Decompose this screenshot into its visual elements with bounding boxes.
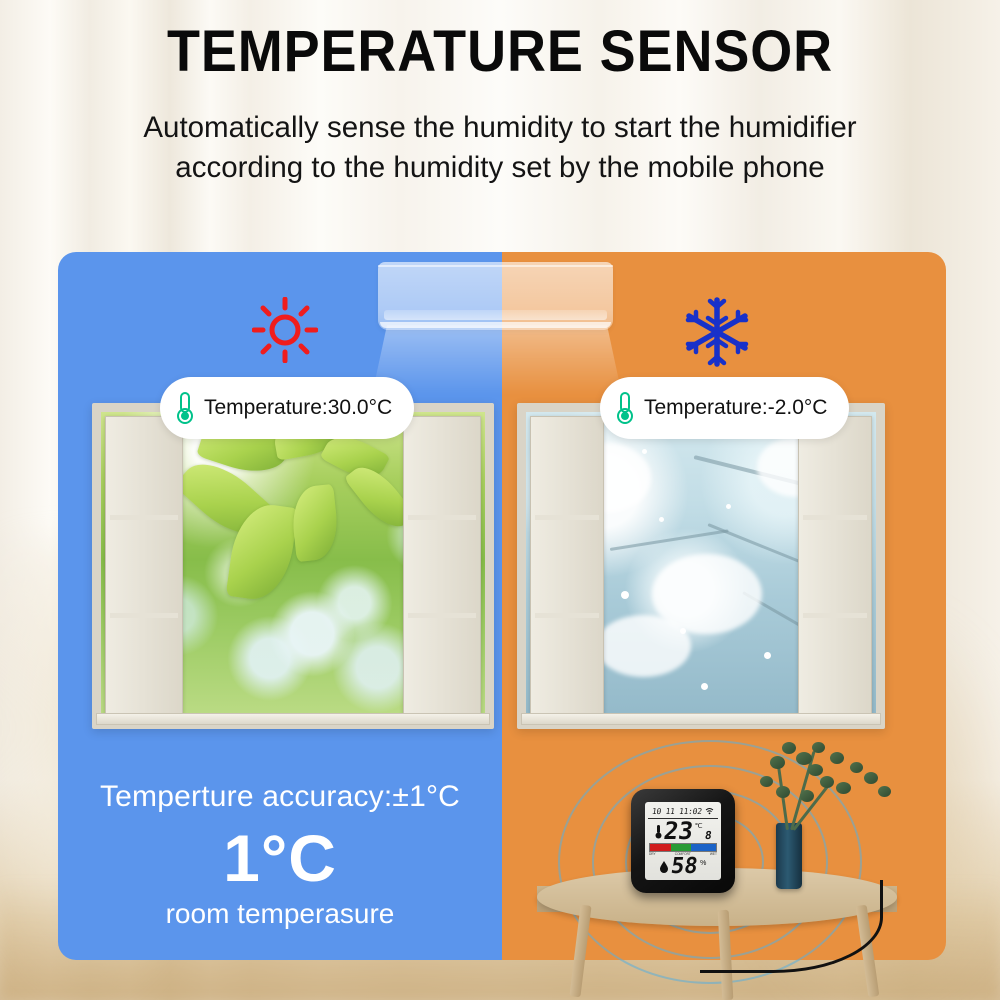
ac-airflow xyxy=(372,325,622,395)
mullion-horizontal-right-2 xyxy=(803,613,867,618)
plant-leaf xyxy=(776,786,790,798)
lcd-temperature-row: 23 ℃ 8 xyxy=(645,819,721,843)
mullion-vertical-left xyxy=(140,421,145,709)
plant-leaf xyxy=(836,782,851,794)
plant-leaf xyxy=(864,772,878,784)
window-sill-right xyxy=(521,713,881,725)
vase xyxy=(776,823,802,889)
mullion-horizontal-left-1 xyxy=(110,515,178,520)
plant-leaf xyxy=(808,764,823,776)
mullion-horizontal-right-1 xyxy=(803,515,867,520)
wifi-icon xyxy=(705,807,714,815)
comfort-bar-dry xyxy=(650,844,671,851)
air-conditioner-unit xyxy=(378,262,613,330)
lcd-temperature-value: 23 xyxy=(662,819,694,843)
plant-leaf xyxy=(878,786,891,797)
mullion-horizontal-right-1 xyxy=(408,515,476,520)
temperature-humidity-sensor[interactable]: 10 11 11:02 23 ℃ 8 xyxy=(631,789,735,893)
accuracy-value: 1°C xyxy=(58,822,502,894)
mullion-vertical-right xyxy=(438,421,443,709)
mullion-horizontal-right-2 xyxy=(408,613,476,618)
temperature-bubble-right: Temperature:-2.0°C xyxy=(600,377,849,439)
thermometer-icon xyxy=(655,824,662,839)
sun-icon xyxy=(252,297,318,363)
lcd-humidity-unit: % xyxy=(700,860,706,867)
mullion-vertical-right xyxy=(831,421,836,709)
room-temperature-caption: room temperasure xyxy=(58,898,502,930)
comfort-bar-wet xyxy=(691,844,716,851)
window-summer xyxy=(92,403,494,729)
subtitle-line-1: Automatically sense the humidity to star… xyxy=(30,108,970,148)
lcd-humidity-row: 58 % xyxy=(645,856,721,880)
window-winter xyxy=(517,403,885,729)
plant-leaf xyxy=(800,790,814,802)
accuracy-caption: Temperture accuracy:±1°C xyxy=(58,780,502,814)
ac-top-edge xyxy=(378,265,613,267)
ac-vent xyxy=(384,310,607,320)
temperature-bubble-left-text: Temperature:30.0°C xyxy=(204,396,392,420)
mullion-horizontal-left-2 xyxy=(110,613,178,618)
comfort-bar-comfort xyxy=(671,844,691,851)
mullion-vertical-left xyxy=(563,421,568,709)
temperature-bubble-right-text: Temperature:-2.0°C xyxy=(644,396,827,420)
snowflake-icon xyxy=(681,296,753,368)
page-subtitle: Automatically sense the humidity to star… xyxy=(30,108,970,188)
mullion-horizontal-left-2 xyxy=(535,613,599,618)
subtitle-line-2: according to the humidity set by the mob… xyxy=(30,148,970,188)
product-infographic: TEMPERATURE SENSOR Automatically sense t… xyxy=(0,0,1000,1000)
plant-leaf xyxy=(770,756,785,769)
plant-leaf xyxy=(850,762,863,773)
plant-leaf xyxy=(820,776,834,788)
sensor-lcd-display: 10 11 11:02 23 ℃ 8 xyxy=(645,802,721,880)
plant-leaf xyxy=(782,742,796,754)
plant-leaf xyxy=(830,752,844,764)
window-sill-left xyxy=(96,713,490,725)
page-title: TEMPERATURE SENSOR xyxy=(35,18,965,85)
lcd-clock: 10 11 11:02 xyxy=(652,807,703,816)
thermometer-icon xyxy=(616,391,634,425)
temperature-bubble-left: Temperature:30.0°C xyxy=(160,377,414,439)
lcd-temperature-unit: ℃ xyxy=(695,822,703,830)
plant-leaf xyxy=(796,752,812,765)
mullion-horizontal-left-1 xyxy=(535,515,599,520)
lcd-humidity-value: 58 xyxy=(669,856,699,878)
lcd-temperature-decimal: 8 xyxy=(704,829,712,842)
thermometer-icon xyxy=(176,391,194,425)
plant-leaf xyxy=(760,776,773,787)
plant-leaf xyxy=(812,742,825,753)
water-drop-icon xyxy=(660,861,668,873)
